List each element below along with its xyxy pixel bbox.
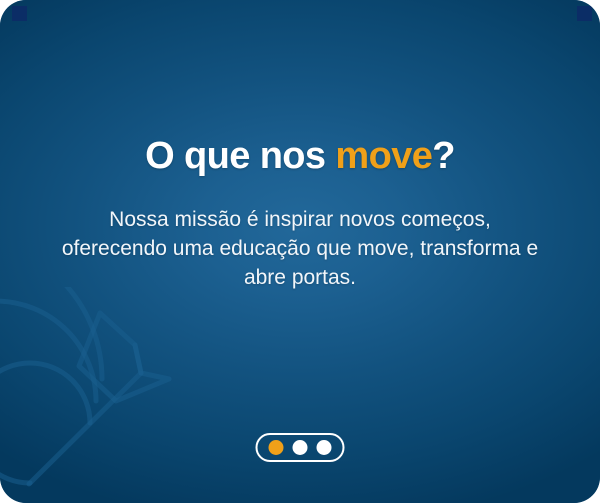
pagination-dot-1[interactable]	[269, 440, 284, 455]
body-paragraph: Nossa missão é inspirar novos começos, o…	[56, 206, 544, 293]
slide-content: O que nos move? Nossa missão é inspirar …	[0, 0, 600, 503]
page-title: O que nos move?	[0, 136, 600, 178]
corner-marker-top-right	[577, 6, 592, 21]
headline-prefix: O que nos	[145, 135, 335, 177]
headline-suffix: ?	[432, 135, 455, 177]
pagination-dot-3[interactable]	[317, 440, 332, 455]
corner-marker-top-left	[12, 6, 27, 21]
promo-slide: O que nos move? Nossa missão é inspirar …	[0, 0, 600, 503]
headline-accent-word: move	[335, 135, 432, 177]
pagination-dot-2[interactable]	[293, 440, 308, 455]
carousel-pagination[interactable]	[256, 433, 345, 462]
